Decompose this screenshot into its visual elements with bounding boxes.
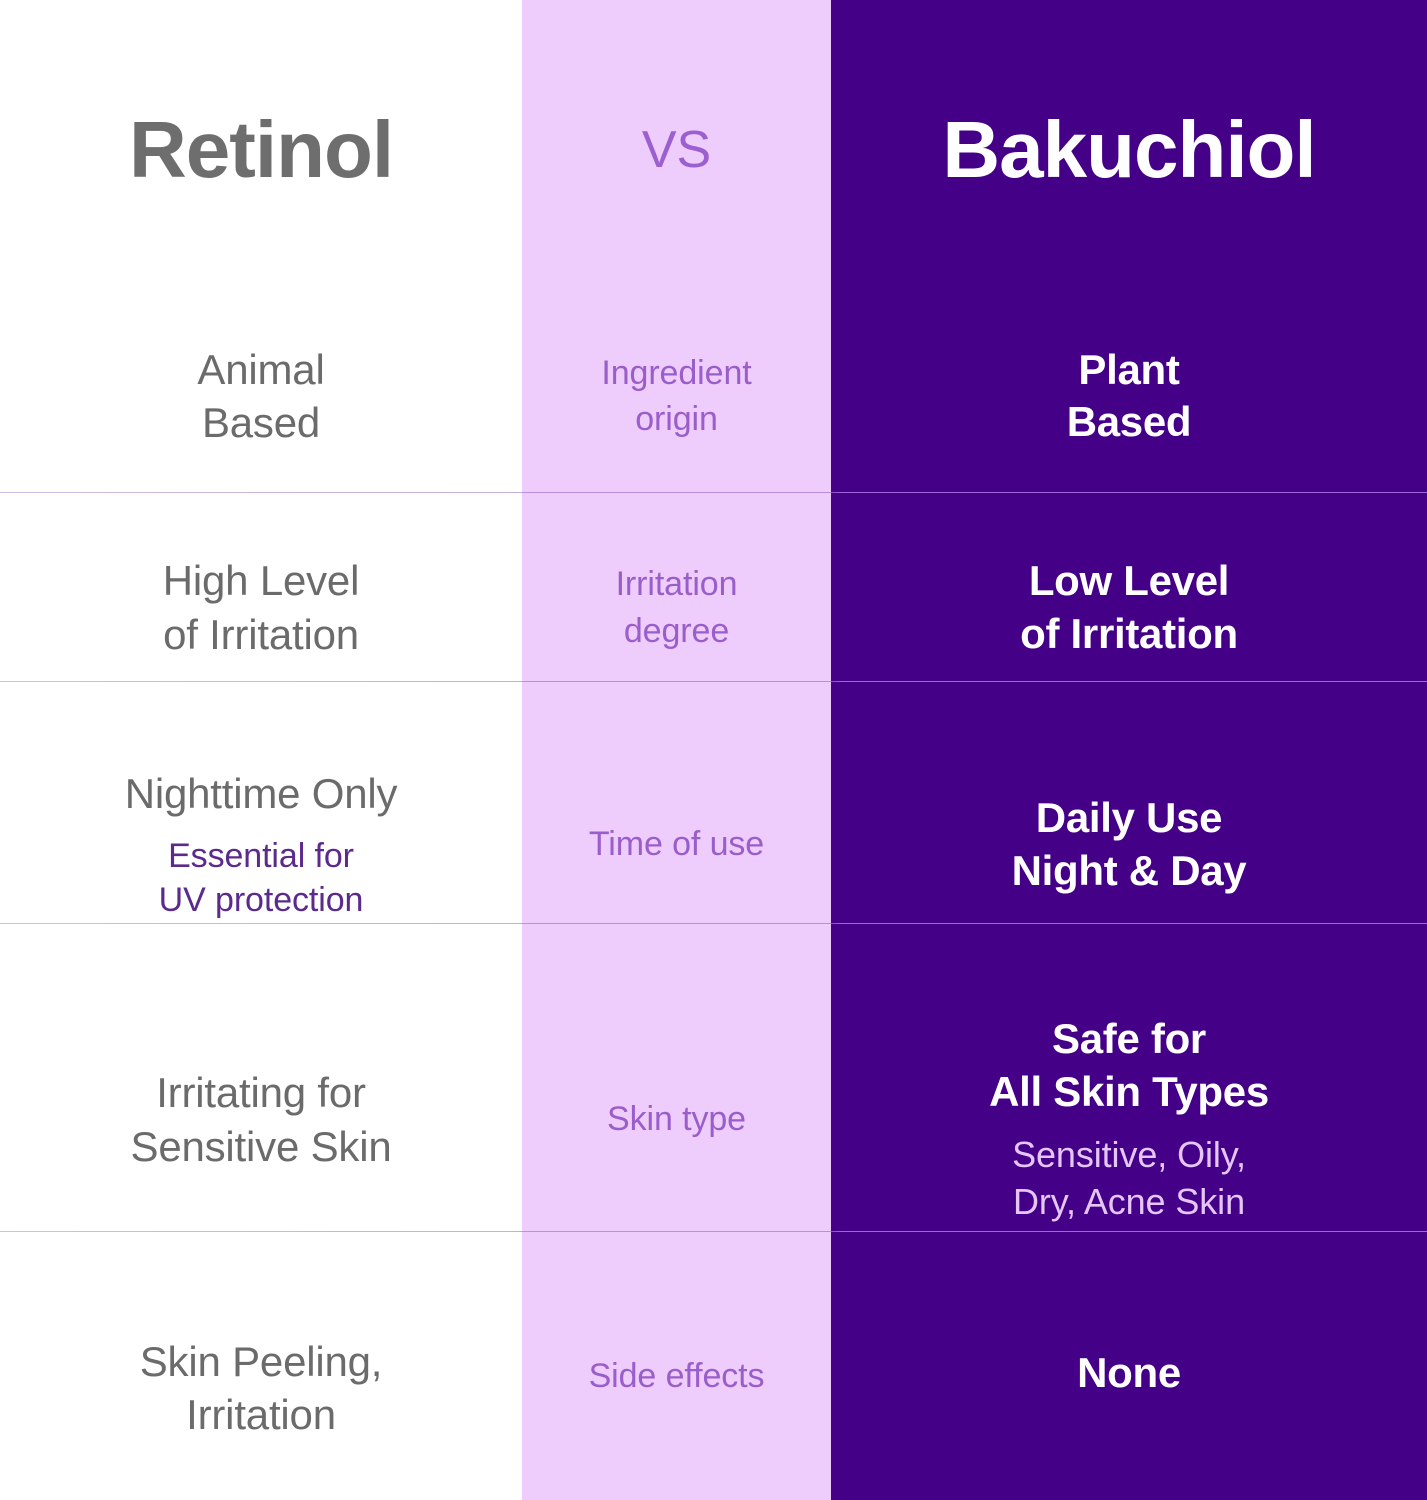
retinol-note-line-1: Essential for xyxy=(168,834,354,878)
retinol-value-line-2: Based xyxy=(202,396,320,449)
retinol-note-line-2: UV protection xyxy=(159,878,364,922)
bakuchiol-cell-time-of-use: Daily Use Night & Day xyxy=(831,723,1427,966)
retinol-cell-side-effects: Skin Peeling, Irritation xyxy=(0,1273,522,1500)
header-cell-retinol: Retinol xyxy=(0,0,522,300)
attribute-cell-side-effects: Side effects xyxy=(522,1273,831,1500)
retinol-cell-skin-type: Irritating for Sensitive Skin xyxy=(0,966,522,1273)
retinol-value-line-2: Irritation xyxy=(186,1388,336,1441)
attribute-label-line-1: Ingredient xyxy=(601,350,751,396)
attribute-label-line-1: Time of use xyxy=(589,821,764,867)
bakuchiol-value-line-1: Low Level xyxy=(1029,555,1229,608)
bakuchiol-cell-irritation-degree: Low Level of Irritation xyxy=(831,492,1427,723)
retinol-value-line-1: Nighttime Only xyxy=(125,767,398,820)
attribute-cell-skin-type: Skin type xyxy=(522,966,831,1273)
attribute-label-line-2: origin xyxy=(635,396,718,442)
bakuchiol-value-line-1: Plant xyxy=(1078,344,1179,397)
retinol-cell-irritation-degree: High Level of Irritation xyxy=(0,492,522,723)
attribute-label-line-2: degree xyxy=(624,608,729,654)
bakuchiol-note-line-1: Sensitive, Oily, xyxy=(1012,1132,1246,1179)
attribute-cell-ingredient-origin: Ingredient origin xyxy=(522,300,831,492)
bakuchiol-value-line-2: Based xyxy=(1067,396,1192,449)
bakuchiol-note-line-2: Dry, Acne Skin xyxy=(1013,1179,1245,1226)
retinol-value-line-1: Skin Peeling, xyxy=(140,1335,383,1388)
comparison-infographic: Retinol VS Bakuchiol Animal Based Ingred… xyxy=(0,0,1427,1500)
header-cell-vs: VS xyxy=(522,0,831,300)
bakuchiol-value-line-2: of Irritation xyxy=(1020,608,1238,661)
attribute-label-line-1: Skin type xyxy=(607,1096,746,1142)
retinol-cell-time-of-use: Nighttime Only Essential for UV protecti… xyxy=(0,723,522,966)
attribute-cell-time-of-use: Time of use xyxy=(522,723,831,966)
bakuchiol-title: Bakuchiol xyxy=(942,110,1315,190)
bakuchiol-cell-skin-type: Safe for All Skin Types Sensitive, Oily,… xyxy=(831,966,1427,1273)
attribute-label-line-1: Irritation xyxy=(616,561,738,607)
bakuchiol-value-line-1: None xyxy=(1077,1347,1181,1400)
retinol-value-line-1: High Level xyxy=(163,554,359,607)
retinol-cell-ingredient-origin: Animal Based xyxy=(0,300,522,492)
bakuchiol-value-line-1: Safe for xyxy=(1052,1013,1206,1066)
retinol-value-line-1: Animal xyxy=(197,343,324,396)
bakuchiol-value-line-2: Night & Day xyxy=(1012,845,1247,898)
bakuchiol-value-line-1: Daily Use xyxy=(1036,792,1222,845)
bakuchiol-cell-ingredient-origin: Plant Based xyxy=(831,300,1427,492)
header-cell-bakuchiol: Bakuchiol xyxy=(831,0,1427,300)
attribute-cell-irritation-degree: Irritation degree xyxy=(522,492,831,723)
retinol-value-line-1: Irritating for xyxy=(156,1066,366,1119)
comparison-grid: Retinol VS Bakuchiol Animal Based Ingred… xyxy=(0,0,1427,1500)
retinol-title: Retinol xyxy=(129,110,393,190)
bakuchiol-value-line-2: All Skin Types xyxy=(989,1066,1269,1119)
retinol-value-line-2: Sensitive Skin xyxy=(131,1120,392,1173)
retinol-value-line-2: of Irritation xyxy=(163,608,359,661)
attribute-label-line-1: Side effects xyxy=(589,1353,765,1399)
bakuchiol-cell-side-effects: None xyxy=(831,1273,1427,1500)
vs-label: VS xyxy=(642,124,711,176)
